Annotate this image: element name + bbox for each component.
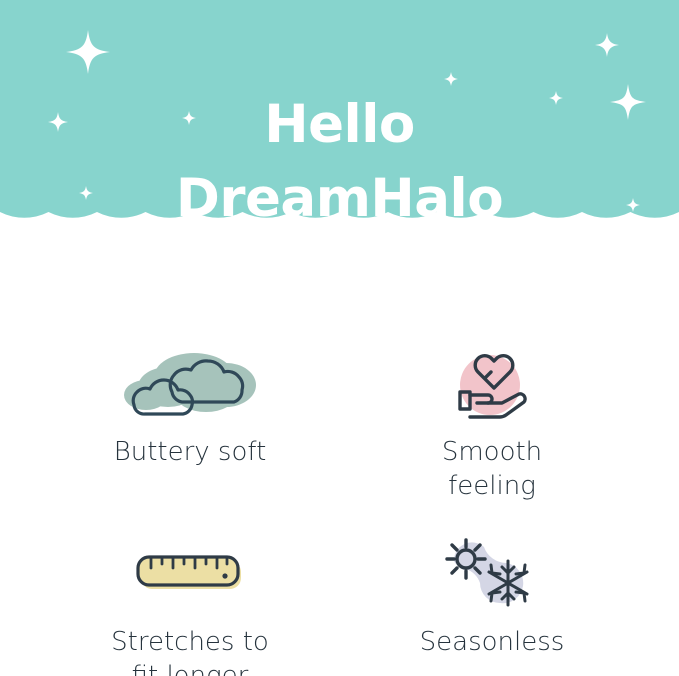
promo-image: Hello DreamHalo — [0, 0, 679, 676]
ruler-icon — [38, 533, 342, 611]
page-title: Hello DreamHalo — [0, 88, 679, 236]
feature-item-smooth-feeling: Smooth feeling — [342, 343, 642, 503]
feature-grid: Buttery soft Smooth feeling — [0, 265, 679, 676]
feature-label: Buttery soft — [38, 435, 342, 469]
feature-item-buttery-soft: Buttery soft — [38, 343, 342, 469]
feature-item-stretches: Stretches to fit longer — [38, 533, 342, 676]
hero-banner: Hello DreamHalo — [0, 0, 679, 265]
feature-label: Seasonless — [342, 625, 642, 659]
heart-in-hand-icon — [342, 343, 642, 421]
feature-label: Stretches to fit longer — [38, 625, 342, 676]
feature-label: Smooth feeling — [342, 435, 642, 503]
clouds-icon — [38, 343, 342, 421]
sun-snowflake-icon — [342, 533, 642, 611]
feature-item-seasonless: Seasonless — [342, 533, 642, 659]
